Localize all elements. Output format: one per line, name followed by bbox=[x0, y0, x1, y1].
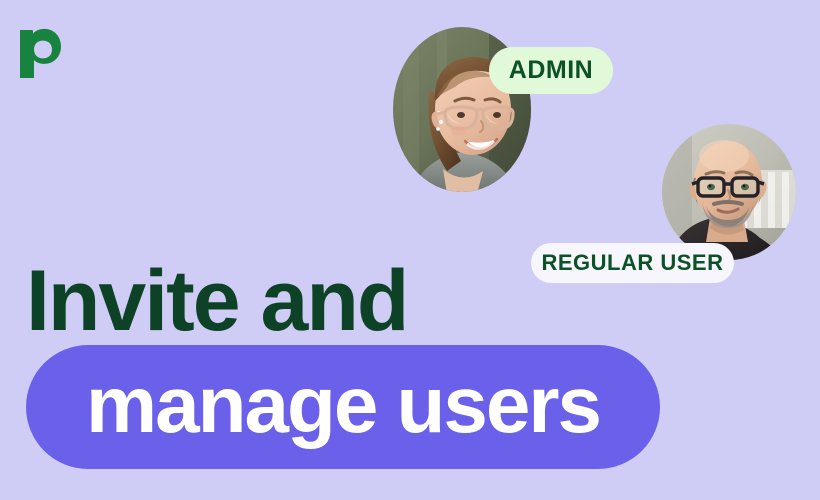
page-title-highlight-pill: manage users bbox=[26, 345, 660, 469]
user-photo-admin-icon bbox=[393, 179, 531, 192]
brand-logo[interactable] bbox=[18, 22, 62, 82]
page-title-line-1: Invite and bbox=[26, 258, 407, 344]
status-badge-regular-user: REGULAR USER bbox=[531, 243, 734, 283]
status-badge-admin-label: ADMIN bbox=[509, 56, 593, 85]
personio-p-logo-icon bbox=[18, 22, 62, 82]
page-title-line-2: manage users bbox=[86, 365, 600, 445]
status-badge-admin: ADMIN bbox=[489, 47, 613, 94]
status-badge-regular-user-label: REGULAR USER bbox=[541, 250, 723, 276]
avatar bbox=[662, 124, 796, 260]
hero-banner: ADMIN bbox=[0, 0, 820, 500]
